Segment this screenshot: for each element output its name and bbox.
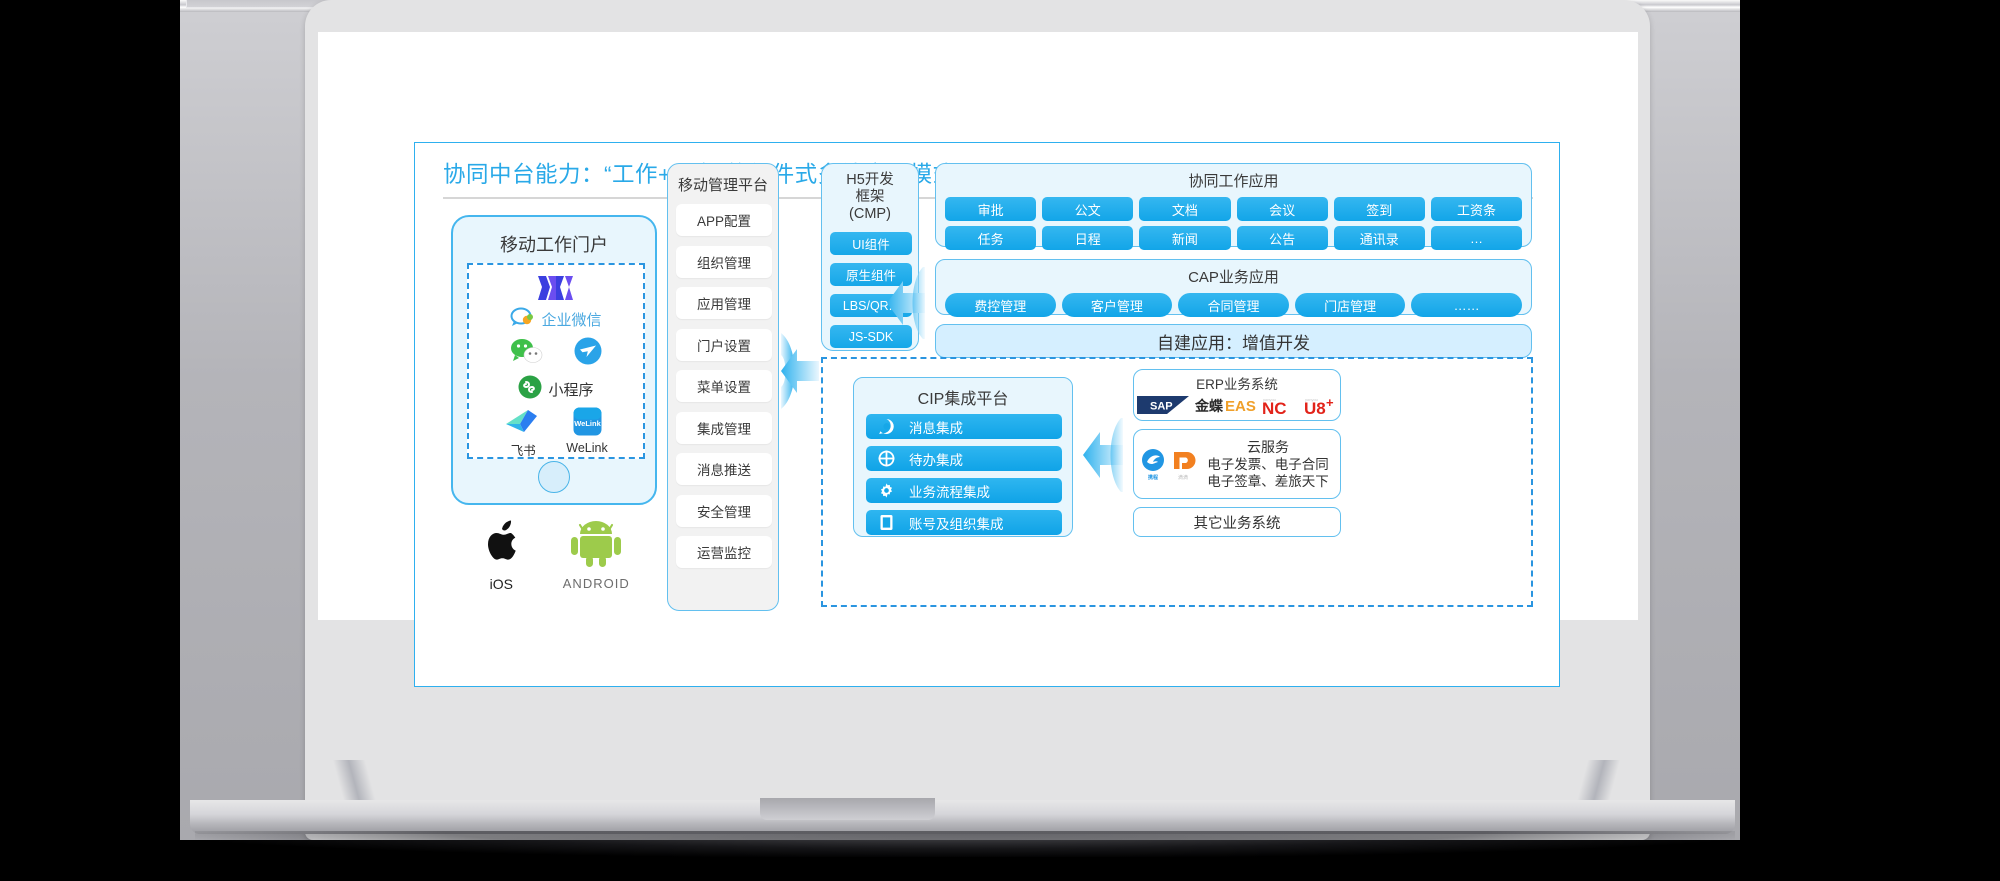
mmp-item-security[interactable]: 安全管理 — [676, 495, 772, 527]
mobile-work-portal-apps: 企业微信 — [467, 263, 645, 459]
square-icon — [878, 514, 895, 531]
cloud-services-line1: 电子发票、电子合同 — [1202, 456, 1334, 473]
collab-chip-document[interactable]: 公文 — [1042, 197, 1133, 221]
cip-item-todo-integration[interactable]: 待办集成 — [866, 446, 1062, 471]
u8-plus-logo: yonyou U8 + — [1305, 395, 1337, 420]
mmp-item-push[interactable]: 消息推送 — [676, 453, 772, 485]
screenshot-root: 协同中台能力：“工作+业务”的组件式多端应用模式 移动工作门户 — [0, 0, 2000, 881]
app-row-5: 飞书 WeLink WeLink — [469, 407, 643, 459]
arrow-left-erp-to-cip — [1081, 414, 1125, 501]
ios-label: iOS — [478, 576, 524, 592]
laptop-shadow — [195, 831, 1735, 857]
android-label: ANDROID — [563, 576, 630, 591]
wework-logo — [510, 307, 536, 332]
h5-title-line1: H5开发 — [846, 172, 894, 188]
didi-label: 滴滴 — [1178, 474, 1188, 481]
mmp-item-monitoring[interactable]: 运营监控 — [676, 536, 772, 568]
mmp-item-portal-setup[interactable]: 门户设置 — [676, 329, 772, 361]
welink-app: WeLink WeLink — [566, 407, 607, 455]
app-row-1 — [469, 273, 643, 308]
erp-systems-card: ERP业务系统 SAP 金蝶 EAS — [1133, 369, 1341, 421]
laptop-base — [190, 800, 1735, 834]
app-row-3 — [469, 337, 643, 370]
cloud-services-body: 携程 滴滴 云服务 电子发票、电子合同 电子签章、差旅天下 — [1134, 430, 1340, 498]
cap-chip-contract[interactable]: 合同管理 — [1178, 293, 1289, 317]
dingtalk-logo — [574, 337, 602, 370]
mmp-item-app-config[interactable]: APP配置 — [676, 204, 772, 236]
phone-home-button[interactable] — [538, 461, 570, 493]
collab-chip-notice[interactable]: 公告 — [1237, 226, 1328, 250]
mmp-item-app-mgmt[interactable]: 应用管理 — [676, 287, 772, 319]
wework-label: 企业微信 — [541, 309, 601, 330]
collab-chip-meeting[interactable]: 会议 — [1237, 197, 1328, 221]
svg-text:U8: U8 — [1305, 399, 1326, 415]
gear-icon — [878, 482, 895, 499]
h5-item-ui-components[interactable]: UI组件 — [830, 232, 912, 255]
cap-apps-title: CAP业务应用 — [936, 266, 1531, 287]
cap-chip-customer[interactable]: 客户管理 — [1062, 293, 1173, 317]
cloud-services-card: 携程 滴滴 云服务 电子发票、电子合同 电子签章、差旅天下 — [1133, 429, 1341, 499]
cap-apps-row: 费控管理 客户管理 合同管理 门店管理 …… — [936, 287, 1531, 317]
collab-chip-contacts[interactable]: 通讯录 — [1334, 226, 1425, 250]
mobile-work-portal-title: 移动工作门户 — [453, 231, 655, 257]
collab-chip-signin[interactable]: 签到 — [1334, 197, 1425, 221]
arrow-left-apps-to-h5 — [885, 263, 927, 348]
svg-text:+: + — [1326, 395, 1334, 410]
cip-item-account-label: 账号及组织集成 — [909, 513, 1004, 533]
os-logos-row: iOS ANDROID — [459, 519, 649, 592]
h5-title-line2: 框架 — [856, 189, 885, 205]
cip-item-todo-label: 待办集成 — [909, 449, 963, 469]
message-icon — [878, 418, 895, 435]
cip-item-process-label: 业务流程集成 — [909, 481, 990, 501]
welink-logo: WeLink — [573, 423, 602, 440]
cap-apps-panel: CAP业务应用 费控管理 客户管理 合同管理 门店管理 …… — [935, 259, 1532, 315]
feishu-app: 飞书 — [504, 407, 542, 459]
svg-text:NC: NC — [1263, 399, 1287, 415]
apple-icon — [478, 519, 524, 569]
miniprogram-logo — [518, 375, 542, 404]
collab-apps-title: 协同工作应用 — [936, 170, 1531, 191]
svg-text:EAS: EAS — [1225, 398, 1256, 415]
other-systems-label: 其它业务系统 — [1194, 512, 1281, 533]
h5-title-line3: (CMP) — [849, 206, 891, 222]
svg-text:金蝶: 金蝶 — [1195, 398, 1224, 415]
maxhub-logo — [536, 273, 576, 308]
ctrip-logo: 携程 — [1140, 448, 1166, 481]
collab-chip-news[interactable]: 新闻 — [1139, 226, 1230, 250]
self-built-app-box: 自建应用：增值开发 — [935, 324, 1532, 358]
cap-chip-store[interactable]: 门店管理 — [1295, 293, 1406, 317]
cip-platform-card: CIP集成平台 消息集成 — [853, 377, 1073, 537]
ctrip-label: 携程 — [1148, 474, 1158, 481]
collab-chip-more[interactable]: … — [1431, 226, 1522, 250]
feishu-label: 飞书 — [504, 440, 542, 459]
sap-logo: SAP — [1137, 395, 1189, 420]
cip-item-message-integration[interactable]: 消息集成 — [866, 414, 1062, 439]
collab-chip-payslip[interactable]: 工资条 — [1431, 197, 1522, 221]
feishu-logo — [504, 422, 542, 439]
target-icon — [878, 450, 895, 467]
cip-item-process-integration[interactable]: 业务流程集成 — [866, 478, 1062, 503]
mmp-item-menu-setup[interactable]: 菜单设置 — [676, 370, 772, 402]
integration-region: CIP集成平台 消息集成 — [821, 357, 1533, 607]
welink-label: WeLink — [566, 441, 607, 455]
didi-logo: 滴滴 — [1170, 448, 1196, 481]
svg-text:WeLink: WeLink — [574, 419, 601, 428]
cip-platform-list: 消息集成 待办集成 — [866, 414, 1062, 542]
wechat-logo — [510, 338, 544, 370]
arrow-left-h5-to-mmp — [779, 331, 821, 416]
cap-chip-expense[interactable]: 费控管理 — [945, 293, 1056, 317]
collab-chip-docs[interactable]: 文档 — [1139, 197, 1230, 221]
erp-logos-row: SAP 金蝶 EAS yonyou NC — [1134, 395, 1340, 420]
android-icon — [567, 519, 625, 569]
other-systems-box[interactable]: 其它业务系统 — [1133, 507, 1341, 537]
slide-canvas: 协同中台能力：“工作+业务”的组件式多端应用模式 移动工作门户 — [414, 142, 1560, 687]
mobile-management-platform-list: APP配置 组织管理 应用管理 门户设置 菜单设置 集成管理 消息推送 安全管理… — [676, 204, 772, 578]
collab-apps-row-2: 任务 日程 新闻 公告 通讯录 … — [936, 221, 1531, 250]
mobile-work-portal-card: 移动工作门户 — [451, 215, 657, 505]
collab-apps-panel: 协同工作应用 审批 公文 文档 会议 签到 工资条 任务 日程 新闻 公告 通讯… — [935, 163, 1532, 247]
collab-chip-schedule[interactable]: 日程 — [1042, 226, 1133, 250]
miniprogram-label: 小程序 — [548, 379, 593, 400]
h5-framework-title: H5开发 框架 (CMP) — [822, 172, 918, 223]
laptop-trackpad-notch — [760, 798, 935, 820]
kingdee-eas-logo: 金蝶 EAS — [1195, 395, 1257, 420]
nc-logo: yonyou NC — [1263, 395, 1299, 420]
android-item: ANDROID — [563, 519, 630, 592]
ios-item: iOS — [478, 519, 524, 592]
app-row-4: 小程序 — [469, 375, 643, 404]
collab-chip-approval[interactable]: 审批 — [945, 197, 1036, 221]
cip-item-message-label: 消息集成 — [909, 417, 963, 437]
cloud-services-title: 云服务 — [1202, 439, 1334, 456]
mmp-item-org-mgmt[interactable]: 组织管理 — [676, 246, 772, 278]
cloud-services-line2: 电子签章、差旅天下 — [1202, 473, 1334, 490]
svg-text:SAP: SAP — [1150, 401, 1173, 413]
collab-chip-task[interactable]: 任务 — [945, 226, 1036, 250]
app-row-2: 企业微信 — [469, 307, 643, 332]
self-built-app-label: 自建应用：增值开发 — [1157, 329, 1310, 354]
cip-platform-title: CIP集成平台 — [854, 385, 1072, 409]
collab-apps-row-1: 审批 公文 文档 会议 签到 工资条 — [936, 191, 1531, 221]
mobile-management-platform-title: 移动管理平台 — [668, 174, 778, 195]
cip-item-account-integration[interactable]: 账号及组织集成 — [866, 510, 1062, 535]
mmp-item-integration[interactable]: 集成管理 — [676, 412, 772, 444]
cap-chip-more[interactable]: …… — [1411, 293, 1522, 317]
erp-systems-title: ERP业务系统 — [1134, 373, 1340, 393]
cloud-services-text: 云服务 电子发票、电子合同 电子签章、差旅天下 — [1202, 439, 1334, 490]
mobile-management-platform-card: 移动管理平台 APP配置 组织管理 应用管理 门户设置 菜单设置 集成管理 消息… — [667, 163, 779, 611]
